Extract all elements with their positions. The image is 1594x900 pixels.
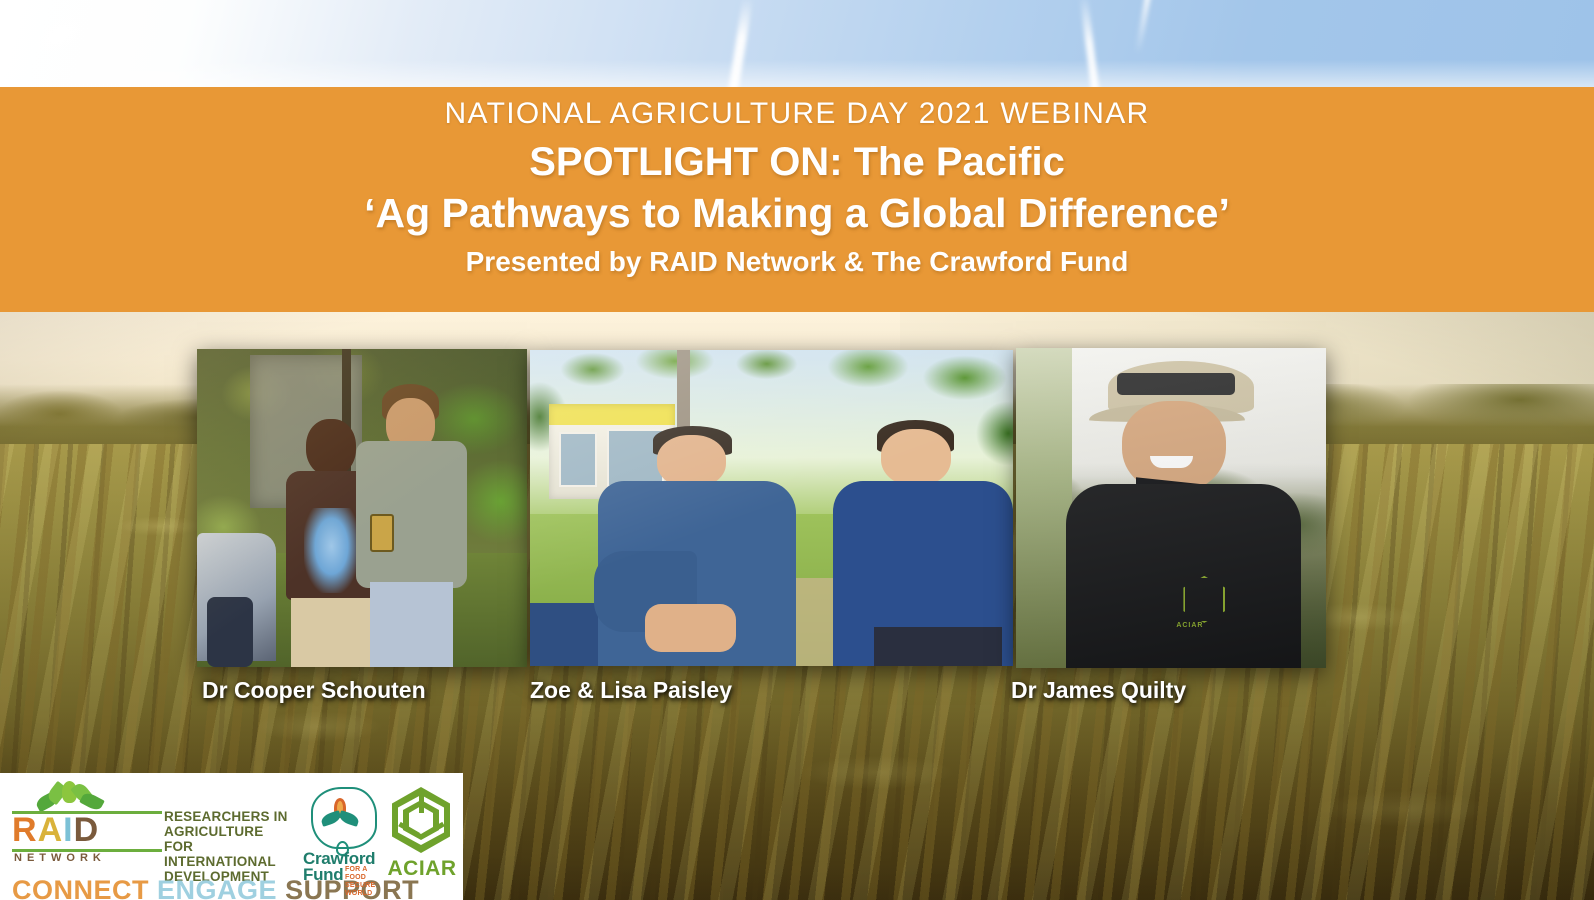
raid-tagline: RESEARCHERS IN AGRICULTURE FOR INTERNATI…: [164, 809, 294, 884]
leaf-5: [79, 791, 105, 813]
aciar-spoke-top: [419, 791, 424, 813]
crawford-strapline-line2: SECURE WORLD: [345, 882, 381, 898]
contrail-right-secondary: [1135, 0, 1151, 54]
banner-title-line2: ‘Ag Pathways to Making a Global Differen…: [364, 189, 1230, 237]
motto-engage: ENGAGE: [157, 875, 277, 900]
crawford-line2: Fund: [303, 865, 343, 885]
raid-subword: NETWORK: [14, 852, 106, 864]
raid-letter-d: D: [74, 813, 100, 847]
leaf-icon: [34, 781, 104, 811]
speaker-photo-cooper-schouten: [197, 349, 527, 667]
crawford-fund-logo: Crawford Fund FOR A FOOD SECURE WORLD: [303, 785, 381, 885]
crawford-strapline-line1: FOR A FOOD: [345, 866, 381, 882]
speaker-name-3: Dr James Quilty: [1011, 677, 1186, 704]
partner-logo-bar: RAID NETWORK RESEARCHERS IN AGRICULTURE …: [0, 773, 463, 900]
raid-letter-r: R: [12, 813, 38, 847]
raid-tagline-line1: RESEARCHERS IN AGRICULTURE: [164, 809, 294, 839]
motto-connect: CONNECT: [12, 875, 149, 900]
raid-wordmark: RAID: [12, 813, 164, 847]
aciar-logo: ACIAR: [386, 787, 456, 885]
crawford-strapline: FOR A FOOD SECURE WORLD: [345, 866, 381, 898]
speaker-name-2: Zoe & Lisa Paisley: [530, 677, 732, 704]
photo3-light-overlay: [1016, 348, 1326, 668]
speaker-photo-paisley: [530, 350, 1013, 666]
banner-title-line1: SPOTLIGHT ON: The Pacific: [529, 139, 1065, 186]
title-banner: NATIONAL AGRICULTURE DAY 2021 WEBINAR SP…: [0, 87, 1594, 312]
webinar-promo-slide: NATIONAL AGRICULTURE DAY 2021 WEBINAR SP…: [0, 0, 1594, 900]
raid-network-logo: RAID NETWORK RESEARCHERS IN AGRICULTURE …: [12, 781, 290, 877]
photo1-light-overlay: [197, 349, 527, 667]
sky-region: [0, 0, 1594, 92]
raid-letter-a: A: [38, 813, 64, 847]
aciar-wordmark: ACIAR: [386, 857, 458, 881]
raid-letter-i: I: [63, 813, 73, 847]
speaker-name-1: Dr Cooper Schouten: [202, 677, 426, 704]
photo2-light-overlay: [530, 350, 1013, 666]
speaker-photo-james-quilty: ACIAR: [1016, 348, 1326, 668]
banner-kicker: NATIONAL AGRICULTURE DAY 2021 WEBINAR: [445, 98, 1150, 130]
banner-presenters: Presented by RAID Network & The Crawford…: [466, 245, 1129, 279]
